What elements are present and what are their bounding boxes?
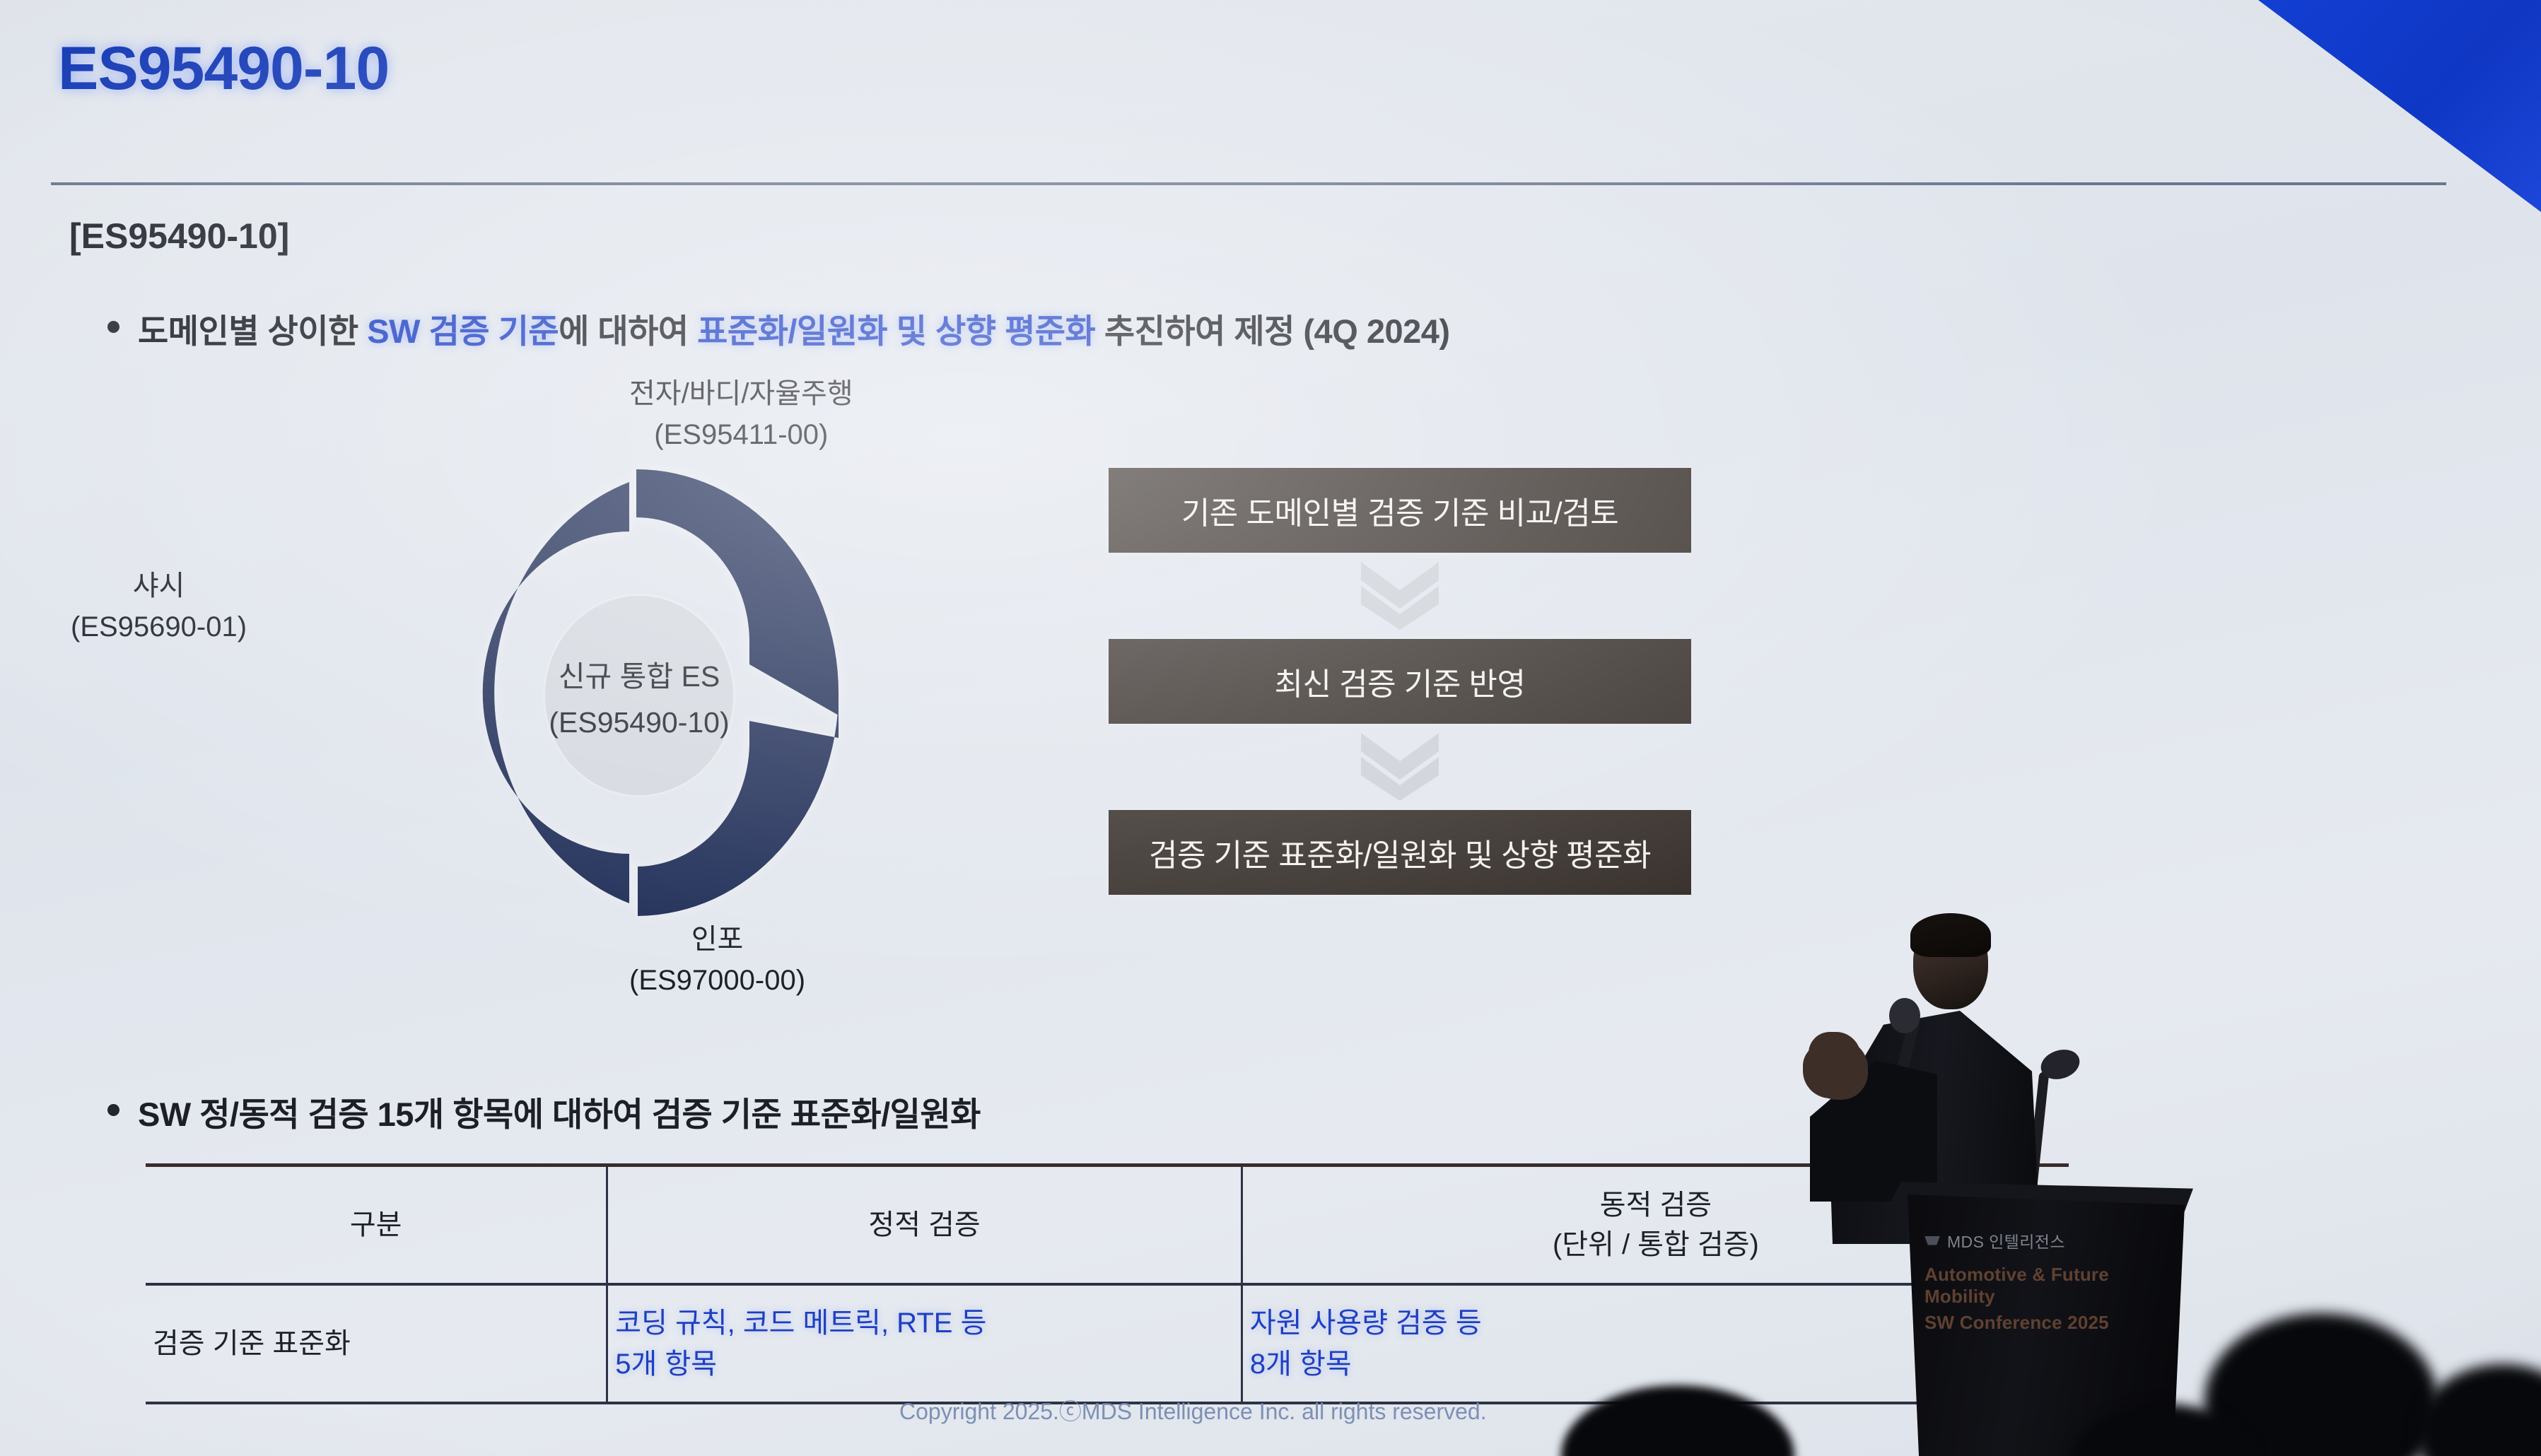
- cell-dynamic-line-1: 자원 사용량 검증 등: [1250, 1303, 2062, 1344]
- bullet-dot-icon: [107, 1104, 119, 1116]
- flow-step-2: 최신 검증 기준 반영: [1109, 639, 1691, 724]
- flow-step-3: 검증 기준 표준화/일원화 및 상향 평준화: [1109, 810, 1691, 895]
- bullet-1-seg-2: 에 대하여: [559, 312, 697, 350]
- table-header-row: 구분 정적 검증 동적 검증 (단위 / 통합 검증): [146, 1166, 2069, 1285]
- bullet-2-text: SW 정/동적 검증 15개 항목에 대하여 검증 기준 표준화/일원화: [138, 1087, 981, 1136]
- cell-static-line-2: 5개 항목: [615, 1344, 1234, 1385]
- donut-label-top-line-1: 전자/바디/자율주행: [629, 373, 853, 414]
- donut-label-left-line-1: 샤시: [71, 565, 247, 606]
- donut-label-top-line-2: (ES95411-00): [629, 414, 853, 455]
- flow-arrow-2: [1109, 724, 1691, 810]
- process-flow: 기존 도메인별 검증 기준 비교/검토 최신 검증 기준 반영 검증 기준 표준…: [1109, 468, 1691, 895]
- donut-hub-line-1: 신규 통합 ES: [559, 652, 720, 695]
- cell-dynamic-verification: 자원 사용량 검증 등 8개 항목: [1242, 1284, 2069, 1403]
- donut-hub-line-2: (ES95490-10): [549, 706, 729, 739]
- donut-label-left-line-2: (ES95690-01): [71, 606, 247, 647]
- bullet-item-2: SW 정/동적 검증 15개 항목에 대하여 검증 기준 표준화/일원화: [107, 1087, 981, 1136]
- donut-label-top: 전자/바디/자율주행 (ES95411-00): [629, 373, 853, 455]
- bullet-1-seg-3: 추진하여 제정 (4Q 2024): [1095, 312, 1449, 350]
- donut-diagram: 신규 통합 ES (ES95490-10): [417, 452, 855, 933]
- column-header-dynamic-line-2: (단위 / 통합 검증): [1250, 1225, 2062, 1264]
- bullet-item-1: 도메인별 상이한 SW 검증 기준에 대하여 표준화/일원화 및 상향 평준화 …: [107, 304, 1450, 353]
- cell-dynamic-line-2: 8개 항목: [1250, 1344, 2062, 1385]
- cell-static-verification: 코딩 규칙, 코드 메트릭, RTE 등 5개 항목: [607, 1284, 1242, 1403]
- conference-photo-stage: ES95490-10 [ES95490-10] 도메인별 상이한 SW 검증 기…: [0, 0, 2541, 1456]
- bullet-1-highlight-2: 표준화/일원화 및 상향 평준화: [697, 312, 1095, 350]
- donut-center-hub: 신규 통합 ES (ES95490-10): [543, 594, 735, 797]
- section-tag: [ES95490-10]: [69, 216, 289, 257]
- page-title: ES95490-10: [58, 34, 389, 104]
- column-header-dynamic-line-1: 동적 검증: [1250, 1185, 2062, 1225]
- donut-label-bottom-line-1: 인포: [629, 919, 805, 960]
- donut-label-bottom-line-2: (ES97000-00): [629, 960, 805, 1001]
- copyright-notice: Copyright 2025.ⓒMDS Intelligence Inc. al…: [899, 1394, 1487, 1426]
- title-divider: [51, 182, 2446, 185]
- row-label: 검증 기준 표준화: [146, 1284, 607, 1403]
- projected-slide: ES95490-10 [ES95490-10] 도메인별 상이한 SW 검증 기…: [0, 0, 2541, 1456]
- column-header-category: 구분: [146, 1166, 607, 1285]
- corner-triangle-decoration: [2258, 0, 2541, 212]
- donut-label-left: 샤시 (ES95690-01): [71, 565, 247, 647]
- donut-label-bottom: 인포 (ES97000-00): [629, 919, 805, 1001]
- column-header-static: 정적 검증: [607, 1166, 1242, 1285]
- column-header-dynamic: 동적 검증 (단위 / 통합 검증): [1242, 1166, 2069, 1285]
- bullet-1-seg-1: 도메인별 상이한: [138, 312, 367, 350]
- flow-arrow-1: [1109, 553, 1691, 639]
- cell-static-line-1: 코딩 규칙, 코드 메트릭, RTE 등: [615, 1303, 1234, 1344]
- verification-criteria-table: 구분 정적 검증 동적 검증 (단위 / 통합 검증) 검증 기준 표준화 코딩…: [146, 1163, 2069, 1404]
- bullet-1-text: 도메인별 상이한 SW 검증 기준에 대하여 표준화/일원화 및 상향 평준화 …: [138, 304, 1450, 353]
- flow-step-1: 기존 도메인별 검증 기준 비교/검토: [1109, 468, 1691, 553]
- bullet-dot-icon: [107, 321, 119, 333]
- table-row: 검증 기준 표준화 코딩 규칙, 코드 메트릭, RTE 등 5개 항목 자원 …: [146, 1284, 2069, 1403]
- bullet-1-highlight-1: SW 검증 기준: [367, 312, 559, 350]
